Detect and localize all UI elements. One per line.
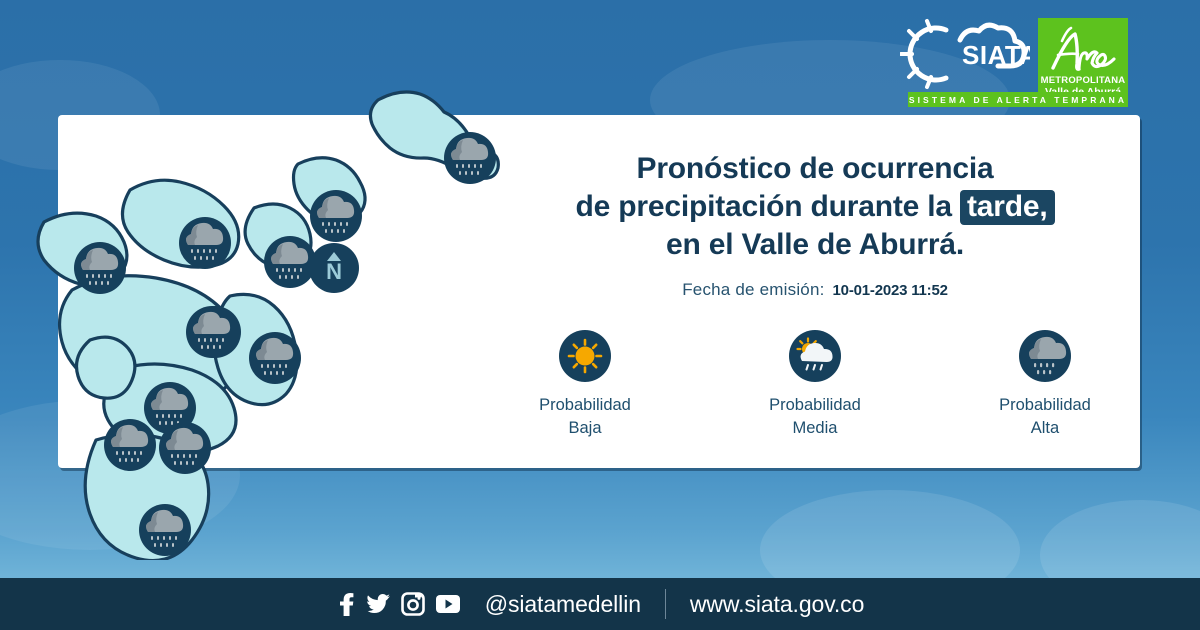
area-script-icon	[1043, 22, 1123, 76]
map-marker-itagui	[249, 332, 301, 384]
emission-date-value: 10-01-2023 11:52	[833, 282, 948, 299]
logo-group: SIATA METROPOLITANA Valle de Aburrá	[900, 18, 1128, 103]
social-handle[interactable]: @siatamedellin	[485, 591, 641, 618]
legend-item-media: Probabilidad Media	[740, 330, 890, 439]
footer-divider	[665, 589, 666, 619]
compass-badge: N	[309, 243, 359, 293]
map-marker-copacabana	[264, 236, 316, 288]
map-marker-bello	[74, 242, 126, 294]
website-url[interactable]: www.siata.gov.co	[690, 591, 864, 618]
map-marker-sabaneta	[104, 419, 156, 471]
social-icon-group	[336, 592, 461, 616]
map-marker-medellin	[186, 306, 238, 358]
sun-icon	[559, 330, 611, 382]
legend-label-alta: Probabilidad Alta	[999, 394, 1091, 439]
legend-item-baja: Probabilidad Baja	[510, 330, 660, 439]
legend-label-media: Probabilidad Media	[769, 394, 861, 439]
headline-line-3: en el Valle de Aburrá.	[490, 226, 1140, 264]
legend-item-alta: Probabilidad Alta	[970, 330, 1120, 439]
twitter-icon[interactable]	[366, 592, 391, 616]
map-marker-barbosa	[444, 132, 496, 184]
area-sub-metropolitana: METROPOLITANA	[1041, 76, 1126, 86]
youtube-icon[interactable]	[435, 594, 461, 614]
siata-logo: SIATA	[900, 18, 1030, 90]
emission-date-row: Fecha de emisión: 10-01-2023 11:52	[490, 280, 1140, 300]
map-marker-envigado	[159, 422, 211, 474]
infographic-root: SIATA METROPOLITANA Valle de Aburrá SIST…	[0, 0, 1200, 630]
area-metropolitana-logo: METROPOLITANA Valle de Aburrá	[1038, 18, 1128, 103]
footer-bar: @siatamedellin www.siata.gov.co	[0, 578, 1200, 630]
valle-de-aburra-map: N	[0, 40, 500, 560]
instagram-icon[interactable]	[401, 592, 425, 616]
headline-line-1: Pronóstico de ocurrencia	[490, 150, 1140, 188]
alert-system-bar: SISTEMA DE ALERTA TEMPRANA	[908, 92, 1128, 107]
facebook-icon[interactable]	[336, 592, 356, 616]
legend-label-baja: Probabilidad Baja	[539, 394, 631, 439]
municipality-la-estrella	[77, 337, 135, 398]
map-marker-san-pedro	[179, 217, 231, 269]
emission-date-label: Fecha de emisión:	[682, 280, 824, 300]
map-marker-girardota	[310, 190, 362, 242]
rain-cloud-icon	[1019, 330, 1071, 382]
compass-label: N	[326, 259, 342, 284]
map-marker-caldas	[139, 504, 191, 556]
forecast-content: Pronóstico de ocurrencia de precipitació…	[490, 150, 1140, 439]
headline-line-2-text: de precipitación durante la	[576, 190, 961, 223]
highlight-tarde: tarde,	[960, 190, 1055, 226]
page-title: Pronóstico de ocurrencia de precipitació…	[490, 150, 1140, 263]
sun-rain-cloud-icon	[789, 330, 841, 382]
headline-line-2: de precipitación durante la tarde,	[490, 188, 1140, 226]
siata-wordmark: SIATA	[962, 40, 1030, 70]
probability-legend: Probabilidad Baja	[490, 330, 1140, 439]
